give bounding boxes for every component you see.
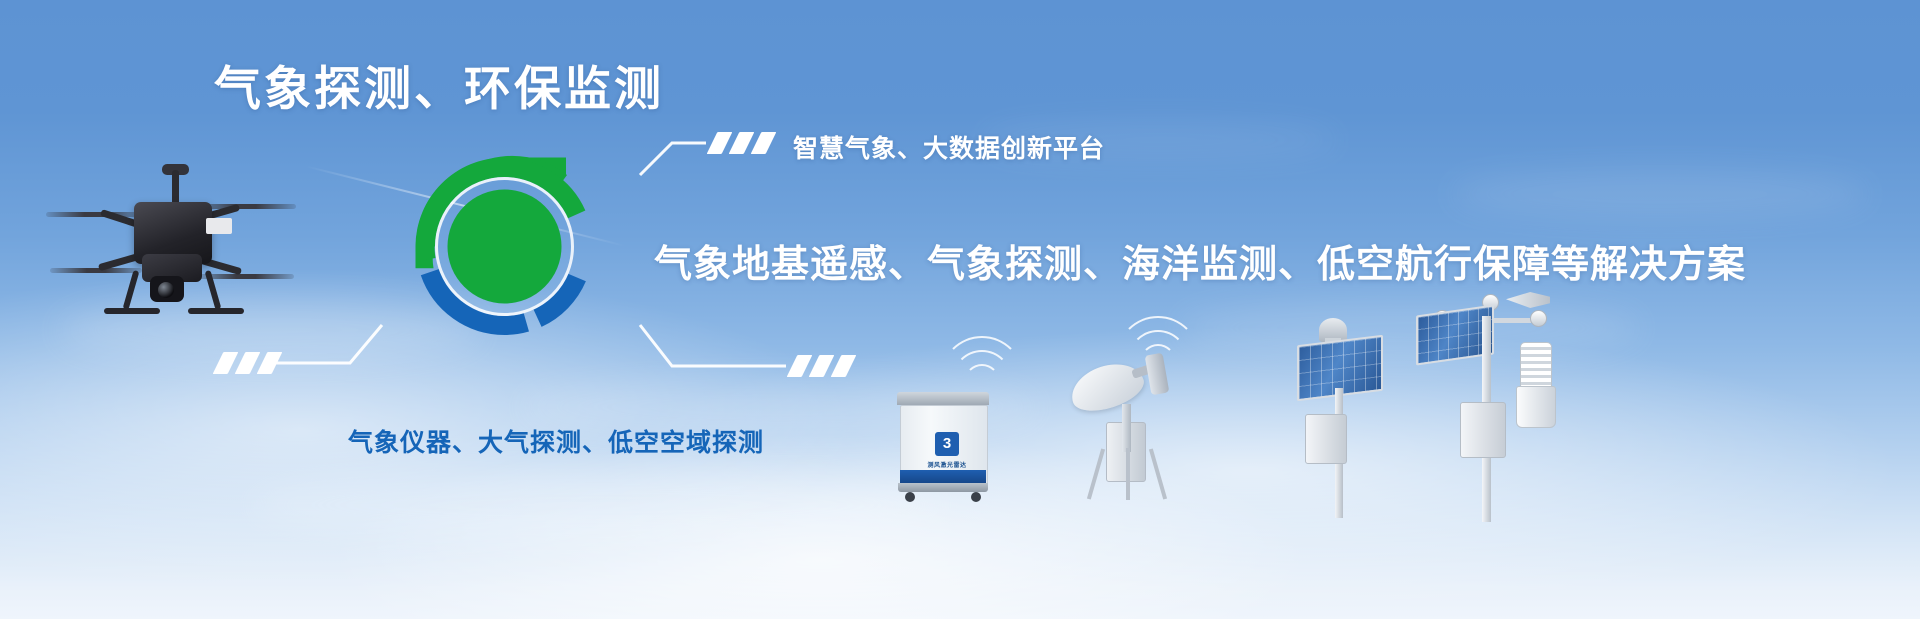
radiation-shield-icon (1520, 342, 1552, 390)
slash-marks-bottom (218, 352, 277, 374)
cloud-wisp (1450, 170, 1870, 218)
slash-marks-top (712, 132, 771, 154)
slash-marks-middle (792, 355, 851, 377)
radar-dish-photo (1070, 352, 1190, 502)
anemometer-station-photo (1410, 282, 1580, 522)
wind-vane-icon (1506, 292, 1550, 308)
cabinet-title: 测风激光雷达 (901, 460, 993, 469)
label-instruments: 气象仪器、大气探测、低空空域探测 (348, 423, 764, 459)
cloud-wisp (250, 470, 950, 540)
solar-weather-station-photo (1283, 318, 1403, 518)
drone-photo (46, 158, 296, 338)
page-title: 气象探测、环保监测 (214, 50, 664, 119)
donut-ring-graphic (391, 133, 618, 360)
cabinet-logo: 3 (935, 432, 959, 456)
label-solutions: 气象地基遥感、气象探测、海洋监测、低空航行保障等解决方案 (654, 233, 1746, 288)
signal-waves-icon (924, 320, 1044, 390)
rain-gauge-icon (1516, 386, 1556, 428)
lidar-cabinet-photo: 3 测风激光雷达 AW-LD100 北京某某科技有限公司 (897, 392, 989, 502)
label-smart-meteorology: 智慧气象、大数据创新平台 (793, 129, 1105, 165)
weather-detection-banner: 气象探测、环保监测 (0, 0, 1920, 619)
